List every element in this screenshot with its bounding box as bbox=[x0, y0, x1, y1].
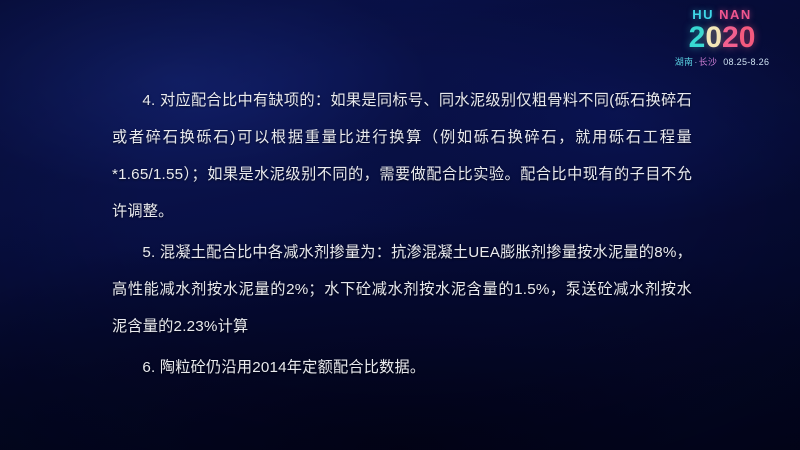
slide-body: 4. 对应配合比中有缺项的：如果是同标号、同水泥级别仅粗骨料不同(砾石换碎石或者… bbox=[112, 82, 692, 386]
logo-year-digit-2: 0 bbox=[705, 22, 722, 54]
paragraph-6: 6. 陶粒砼仍沿用2014年定额配合比数据。 bbox=[112, 349, 692, 386]
presentation-slide: HU NAN 2020 湖南·长沙08.25-8.26 4. 对应配合比中有缺项… bbox=[0, 0, 800, 450]
logo-title-nan: NAN bbox=[719, 7, 752, 22]
logo-year-digit-4: 0 bbox=[739, 22, 756, 54]
logo-city: 长沙 bbox=[699, 57, 718, 67]
logo-title: HU NAN bbox=[656, 8, 788, 21]
logo-separator: · bbox=[694, 57, 697, 67]
paragraph-4: 4. 对应配合比中有缺项的：如果是同标号、同水泥级别仅粗骨料不同(砾石换碎石或者… bbox=[112, 82, 692, 230]
logo-title-hu: HU bbox=[692, 7, 714, 22]
logo-dates: 08.25-8.26 bbox=[723, 57, 769, 67]
logo-province: 湖南 bbox=[675, 57, 694, 67]
logo-year: 2020 bbox=[656, 22, 788, 54]
event-logo: HU NAN 2020 湖南·长沙08.25-8.26 bbox=[656, 8, 788, 67]
paragraph-5: 5. 混凝土配合比中各减水剂掺量为：抗渗混凝土UEA膨胀剂掺量按水泥量的8%，高… bbox=[112, 234, 692, 345]
logo-year-digit-1: 2 bbox=[689, 22, 706, 54]
logo-year-digit-3: 2 bbox=[722, 22, 739, 54]
logo-subtitle: 湖南·长沙08.25-8.26 bbox=[656, 58, 788, 67]
